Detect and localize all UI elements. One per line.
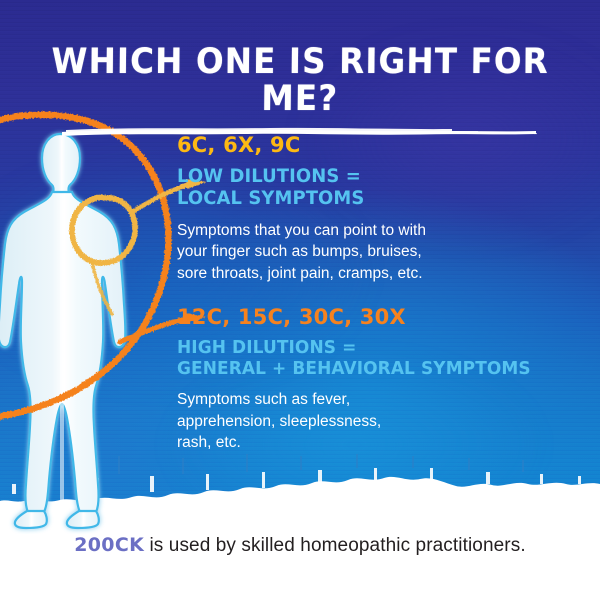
footer-text: is used by skilled homeopathic practitio… [144,535,526,556]
figure-center-highlight [60,194,64,512]
title-block: WHICH ONE IS RIGHT FOR ME? [0,44,600,141]
section-high-dilutions: 12C, 15C, 30C, 30X HIGH DILUTIONS = GENE… [177,306,589,454]
title-underline-stroke [60,125,540,141]
body-copy-high-dilutions: Symptoms such as fever, apprehension, sl… [177,389,589,453]
section-low-dilutions: 6C, 6X, 9C LOW DILUTIONS = LOCAL SYMPTOM… [177,134,589,284]
body-copy-low-dilutions: Symptoms that you can point to with your… [177,220,589,284]
footer-sentence: 200CK is used by skilled homeopathic pra… [74,535,525,556]
page-title: WHICH ONE IS RIGHT FOR ME? [21,44,580,118]
human-body-silhouette [0,128,184,534]
content-column: 6C, 6X, 9C LOW DILUTIONS = LOCAL SYMPTOM… [177,134,589,453]
infographic-canvas: WHICH ONE IS RIGHT FOR ME? [0,0,600,600]
footer-potency-200ck: 200CK [74,534,144,556]
potency-list-high: 12C, 15C, 30C, 30X [177,306,589,329]
headline-high-dilutions: HIGH DILUTIONS = GENERAL + BEHAVIORAL SY… [177,338,577,379]
footer-note: 200CK is used by skilled homeopathic pra… [0,534,600,557]
headline-low-dilutions: LOW DILUTIONS = LOCAL SYMPTOMS [177,166,577,210]
body-figure-svg [0,128,184,534]
